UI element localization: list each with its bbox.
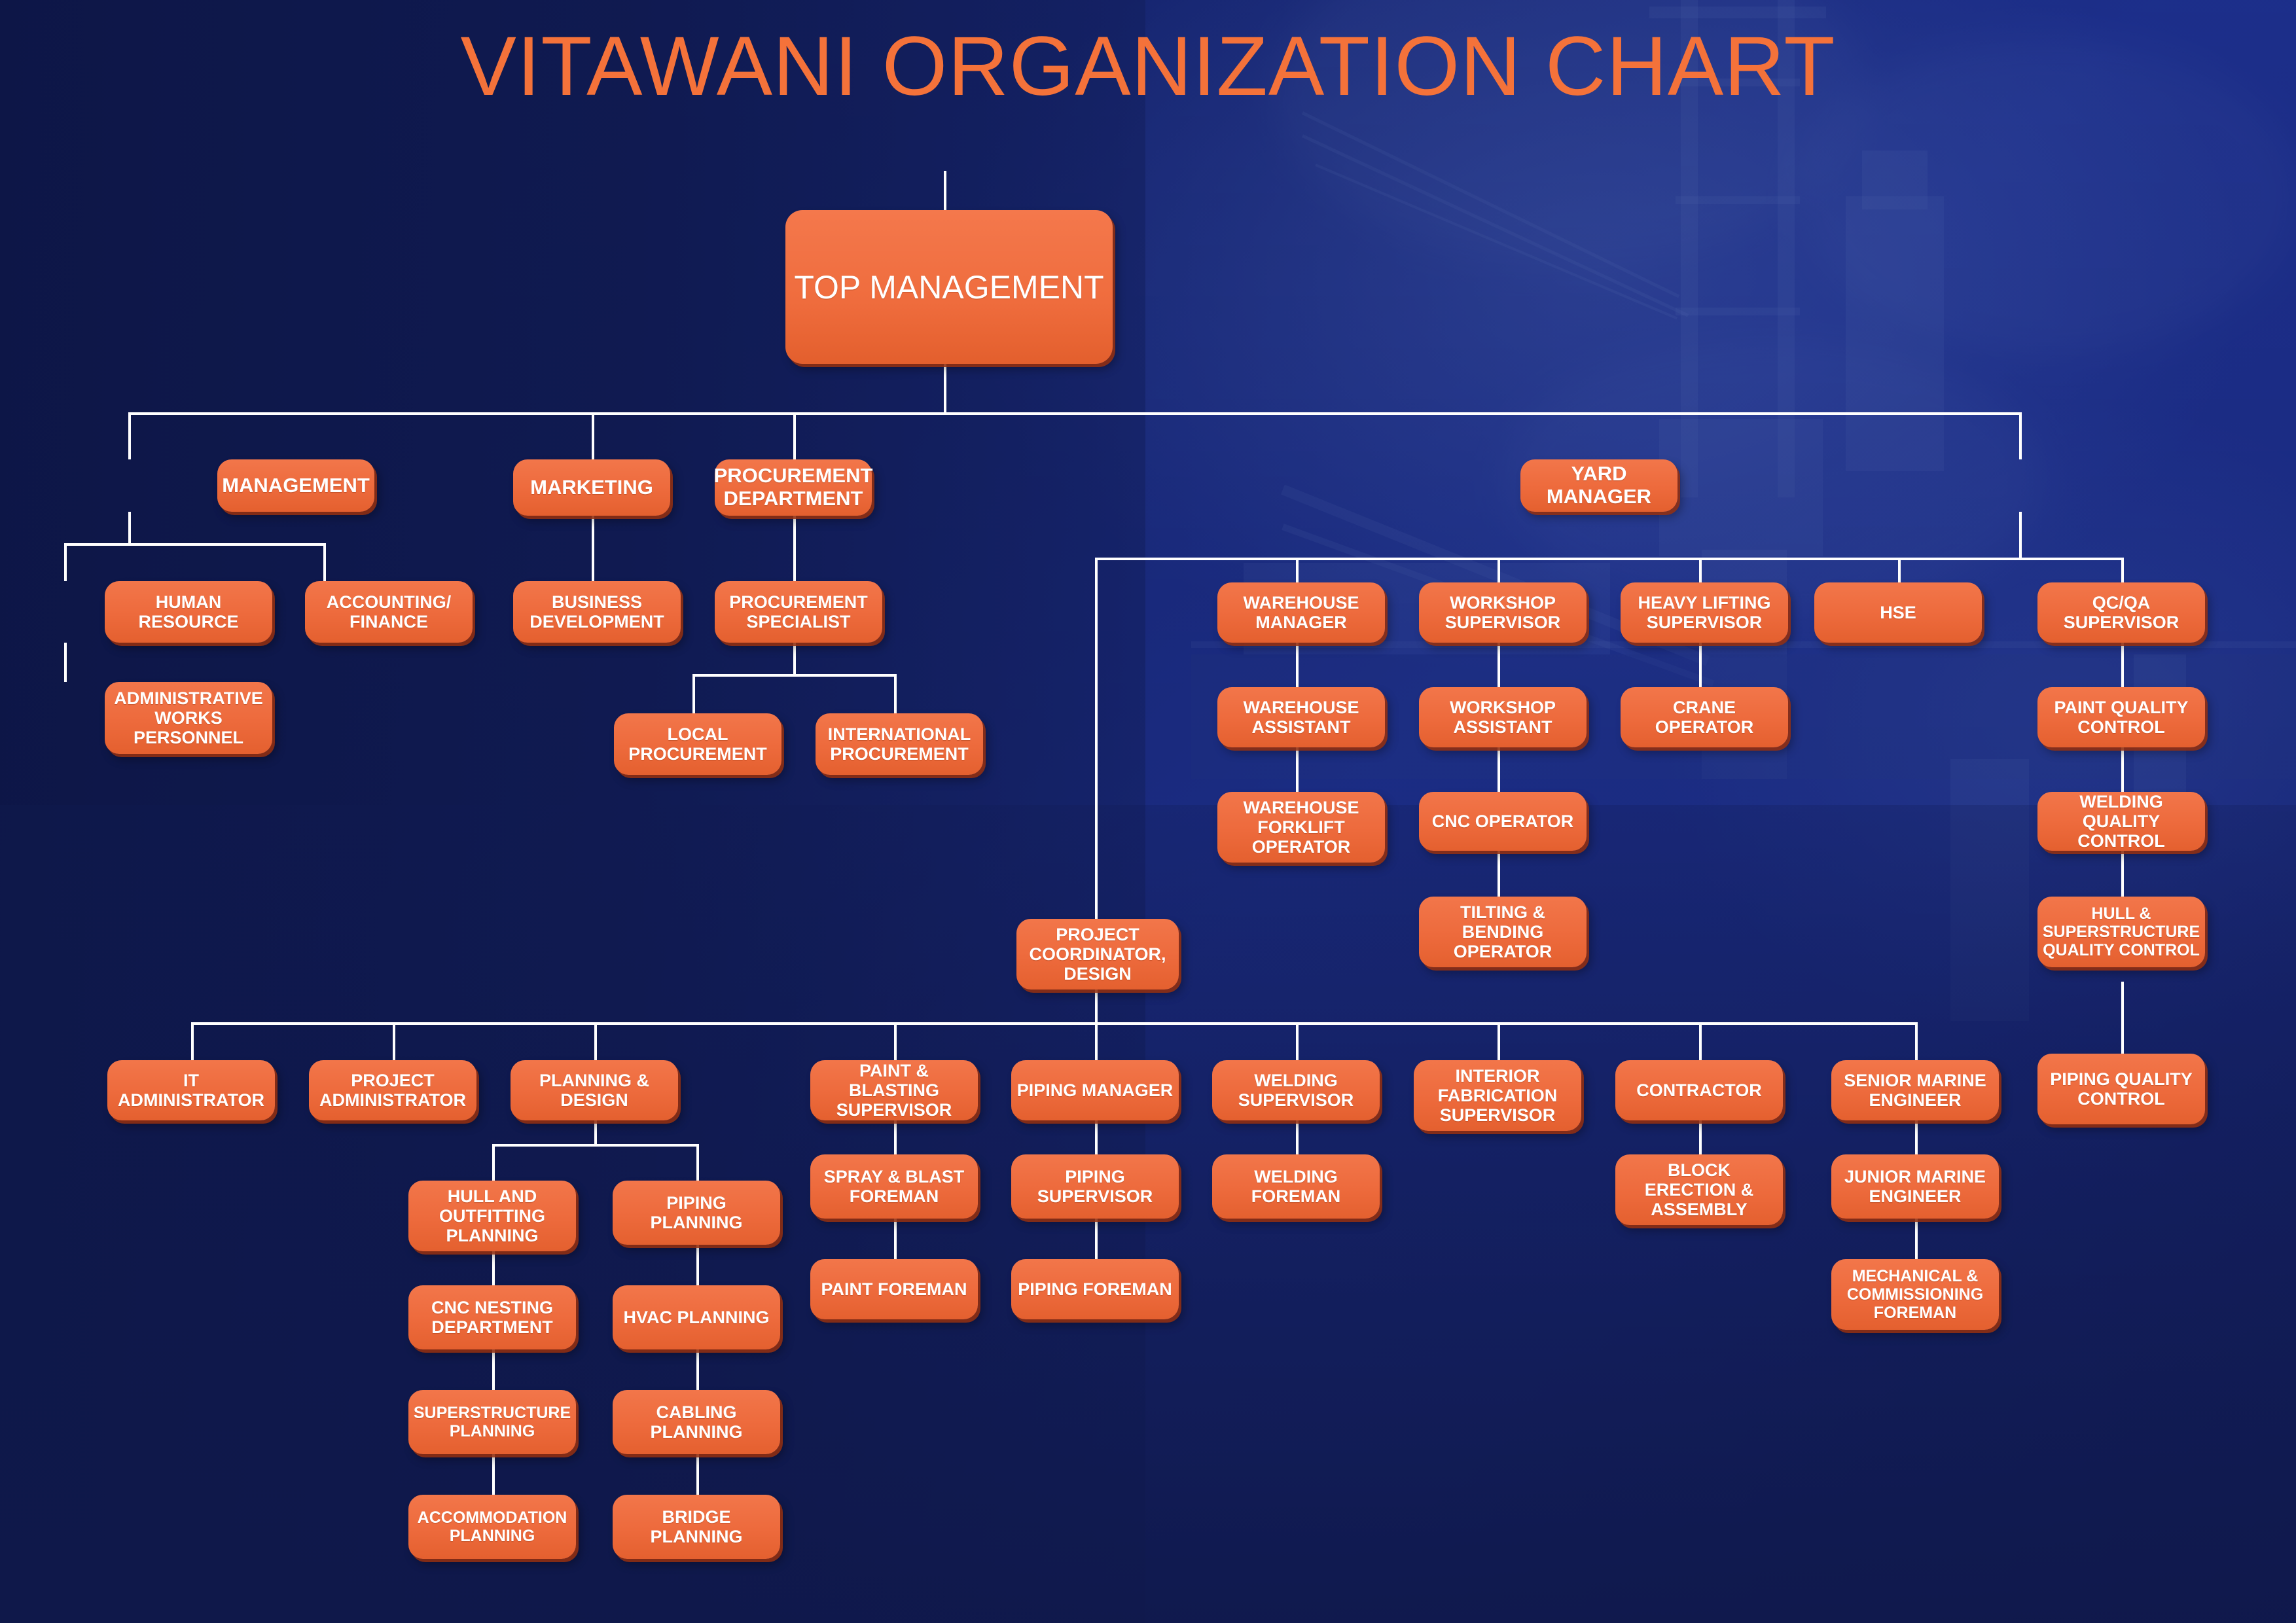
connector-hvac-cabling bbox=[696, 1349, 699, 1390]
node-piping-foreman[interactable]: PIPING FOREMAN bbox=[1011, 1259, 1179, 1319]
connector-management-accounting bbox=[323, 543, 326, 581]
node-welding-supervisor[interactable]: WELDING SUPERVISOR bbox=[1212, 1060, 1380, 1120]
node-project-coordinator-design[interactable]: PROJECT COORDINATOR, DESIGN bbox=[1016, 919, 1179, 990]
connector-yard-warehouse bbox=[1296, 558, 1299, 582]
connector-planning-hull-outfit bbox=[492, 1144, 495, 1181]
node-business-development[interactable]: BUSINESS DEVELOPMENT bbox=[513, 581, 681, 643]
connector-cabling-bridge bbox=[696, 1454, 699, 1495]
connector-bottom-seniormarine bbox=[1915, 1022, 1918, 1060]
connector-bottom-paintblast bbox=[894, 1022, 897, 1060]
node-superstructure-planning[interactable]: SUPERSTRUCTURE PLANNING bbox=[408, 1390, 576, 1454]
connector-bus-marketing bbox=[592, 412, 594, 459]
node-cnc-nesting-department[interactable]: CNC NESTING DEPARTMENT bbox=[408, 1285, 576, 1349]
connector-marketing-bd bbox=[592, 512, 594, 581]
node-warehouse-manager[interactable]: WAREHOUSE MANAGER bbox=[1217, 582, 1385, 643]
connector-heavylift-crane bbox=[1699, 643, 1702, 687]
node-hvac-planning[interactable]: HVAC PLANNING bbox=[613, 1285, 780, 1349]
node-workshop-assistant[interactable]: WORKSHOP ASSISTANT bbox=[1419, 687, 1587, 747]
connector-spray-paintforeman bbox=[894, 1219, 897, 1259]
connector-warehouse-assistant-forklift bbox=[1296, 747, 1299, 792]
connector-qcqa-paint bbox=[2121, 643, 2124, 687]
connector-bus-management bbox=[128, 412, 131, 459]
node-piping-manager[interactable]: PIPING MANAGER bbox=[1011, 1060, 1179, 1120]
node-welding-quality-control[interactable]: WELDING QUALITY CONTROL bbox=[2037, 792, 2205, 851]
connector-tier1-bus bbox=[128, 412, 944, 415]
node-workshop-supervisor[interactable]: WORKSHOP SUPERVISOR bbox=[1419, 582, 1587, 643]
node-cnc-operator[interactable]: CNC OPERATOR bbox=[1419, 792, 1587, 851]
connector-hr-admin bbox=[64, 643, 67, 682]
node-warehouse-assistant[interactable]: WAREHOUSE ASSISTANT bbox=[1217, 687, 1385, 747]
node-hse[interactable]: HSE bbox=[1814, 582, 1982, 643]
connector-international-procurement bbox=[894, 674, 897, 713]
connector-planning-bus bbox=[492, 1144, 696, 1147]
node-paint-quality-control[interactable]: PAINT QUALITY CONTROL bbox=[2037, 687, 2205, 747]
connector-management-hr bbox=[64, 543, 67, 581]
node-tilting-bending-operator[interactable]: TILTING & BENDING OPERATOR bbox=[1419, 897, 1587, 967]
node-paint-blasting-supervisor[interactable]: PAINT & BLASTING SUPERVISOR bbox=[810, 1060, 978, 1120]
connector-management-down bbox=[128, 512, 131, 544]
connector-yard-down bbox=[2019, 512, 2022, 559]
connector-bottom-planning bbox=[594, 1022, 597, 1060]
node-it-administrator[interactable]: IT ADMINISTRATOR bbox=[107, 1060, 275, 1120]
connector-planning-piping bbox=[696, 1144, 699, 1181]
connector-yard-bus bbox=[1095, 558, 2121, 560]
connector-workshop-sup-assistant bbox=[1498, 643, 1500, 687]
node-crane-operator[interactable]: CRANE OPERATOR bbox=[1621, 687, 1788, 747]
node-senior-marine-engineer[interactable]: SENIOR MARINE ENGINEER bbox=[1831, 1060, 1999, 1120]
node-project-administrator[interactable]: PROJECT ADMINISTRATOR bbox=[309, 1060, 476, 1120]
connector-bus-yard-manager bbox=[2019, 412, 2022, 459]
connector-junior-mechanical bbox=[1915, 1219, 1918, 1259]
node-planning-design[interactable]: PLANNING & DESIGN bbox=[511, 1060, 678, 1120]
node-spray-blast-foreman[interactable]: SPRAY & BLAST FOREMAN bbox=[810, 1154, 978, 1219]
node-cabling-planning[interactable]: CABLING PLANNING bbox=[613, 1390, 780, 1454]
node-interior-fabrication-supervisor[interactable]: INTERIOR FABRICATION SUPERVISOR bbox=[1414, 1060, 1581, 1131]
connector-procurement-bus bbox=[692, 674, 894, 677]
node-piping-supervisor[interactable]: PIPING SUPERVISOR bbox=[1011, 1154, 1179, 1219]
node-warehouse-forklift-operator[interactable]: WAREHOUSE FORKLIFT OPERATOR bbox=[1217, 792, 1385, 863]
connector-tier1-bus-right bbox=[944, 412, 2021, 415]
node-human-resource[interactable]: HUMAN RESOURCE bbox=[105, 581, 272, 643]
connector-hull-piping-qc bbox=[2121, 982, 2124, 1054]
node-hull-superstructure-quality-control[interactable]: HULL & SUPERSTRUCTURE QUALITY CONTROL bbox=[2037, 897, 2205, 967]
connector-specialist-down bbox=[793, 643, 796, 675]
connector-yard-qcqa bbox=[2121, 558, 2124, 582]
node-bridge-planning[interactable]: BRIDGE PLANNING bbox=[613, 1495, 780, 1559]
connector-pipingsup-foreman bbox=[1095, 1219, 1098, 1259]
node-heavy-lifting-supervisor[interactable]: HEAVY LIFTING SUPERVISOR bbox=[1621, 582, 1788, 643]
connector-yard-to-project-coordinator bbox=[1095, 558, 1098, 937]
node-marketing[interactable]: MARKETING bbox=[513, 459, 670, 516]
connector-workshop-assistant-cnc bbox=[1498, 747, 1500, 792]
connector-welding-hull-qc bbox=[2121, 851, 2124, 897]
connector-procdept-specialist bbox=[793, 512, 796, 581]
connector-cnc-superstructure bbox=[492, 1349, 495, 1390]
connector-yard-hse bbox=[1898, 558, 1901, 582]
node-accounting-finance[interactable]: ACCOUNTING/ FINANCE bbox=[305, 581, 473, 643]
connector-local-procurement bbox=[692, 674, 695, 713]
node-top-management[interactable]: TOP MANAGEMENT bbox=[785, 210, 1113, 364]
node-procurement-department[interactable]: PROCUREMENT DEPARTMENT bbox=[715, 459, 872, 516]
node-local-procurement[interactable]: LOCAL PROCUREMENT bbox=[614, 713, 781, 775]
node-procurement-specialist[interactable]: PROCUREMENT SPECIALIST bbox=[715, 581, 882, 643]
connector-warehouse-mgr-assistant bbox=[1296, 643, 1299, 687]
connector-bus-procurement bbox=[793, 412, 796, 459]
connector-project-coordinator-down bbox=[1095, 990, 1098, 1024]
page-title: VITAWANI ORGANIZATION CHART bbox=[0, 25, 2296, 109]
node-management[interactable]: MANAGEMENT bbox=[217, 459, 374, 512]
node-qc-qa-supervisor[interactable]: QC/QA SUPERVISOR bbox=[2037, 582, 2205, 643]
connector-bottom-interiorfab bbox=[1498, 1022, 1500, 1060]
node-contractor[interactable]: CONTRACTOR bbox=[1615, 1060, 1783, 1120]
node-paint-foreman[interactable]: PAINT FOREMAN bbox=[810, 1259, 978, 1319]
node-hull-and-outfitting-planning[interactable]: HULL AND OUTFITTING PLANNING bbox=[408, 1181, 576, 1251]
node-junior-marine-engineer[interactable]: JUNIOR MARINE ENGINEER bbox=[1831, 1154, 1999, 1219]
connector-management-bus bbox=[64, 543, 326, 546]
node-administrative-works-personnel[interactable]: ADMINISTRATIVE WORKS PERSONNEL bbox=[105, 682, 272, 754]
connector-yard-workshop bbox=[1498, 558, 1500, 582]
org-chart-canvas: VITAWANI ORGANIZATION CHART bbox=[0, 0, 2296, 1623]
connector-cnc-tilting bbox=[1498, 851, 1500, 897]
connector-bottom-projadmin bbox=[393, 1022, 395, 1060]
connector-bottom-welding bbox=[1296, 1022, 1299, 1060]
node-piping-quality-control[interactable]: PIPING QUALITY CONTROL bbox=[2037, 1054, 2205, 1124]
node-international-procurement[interactable]: INTERNATIONAL PROCUREMENT bbox=[816, 713, 983, 775]
node-mechanical-commissioning-foreman[interactable]: MECHANICAL & COMMISSIONING FOREMAN bbox=[1831, 1259, 1999, 1330]
connector-yard-heavylift bbox=[1699, 558, 1702, 582]
connector-superstructure-accommodation bbox=[492, 1454, 495, 1495]
connector-piping-hvac bbox=[696, 1245, 699, 1285]
node-welding-foreman[interactable]: WELDING FOREMAN bbox=[1212, 1154, 1380, 1219]
connector-bottom-pipingmgr bbox=[1095, 1022, 1098, 1060]
connector-bottom-it bbox=[191, 1022, 194, 1060]
connector-bottom-bus bbox=[191, 1022, 1915, 1025]
node-accommodation-planning[interactable]: ACCOMMODATION PLANNING bbox=[408, 1495, 576, 1559]
connector-paint-welding-qc bbox=[2121, 747, 2124, 792]
node-piping-planning[interactable]: PIPING PLANNING bbox=[613, 1181, 780, 1245]
node-block-erection-assembly[interactable]: BLOCK ERECTION & ASSEMBLY bbox=[1615, 1154, 1783, 1225]
connector-bottom-contractor bbox=[1699, 1022, 1702, 1060]
node-yard-manager[interactable]: YARD MANAGER bbox=[1520, 459, 1677, 512]
